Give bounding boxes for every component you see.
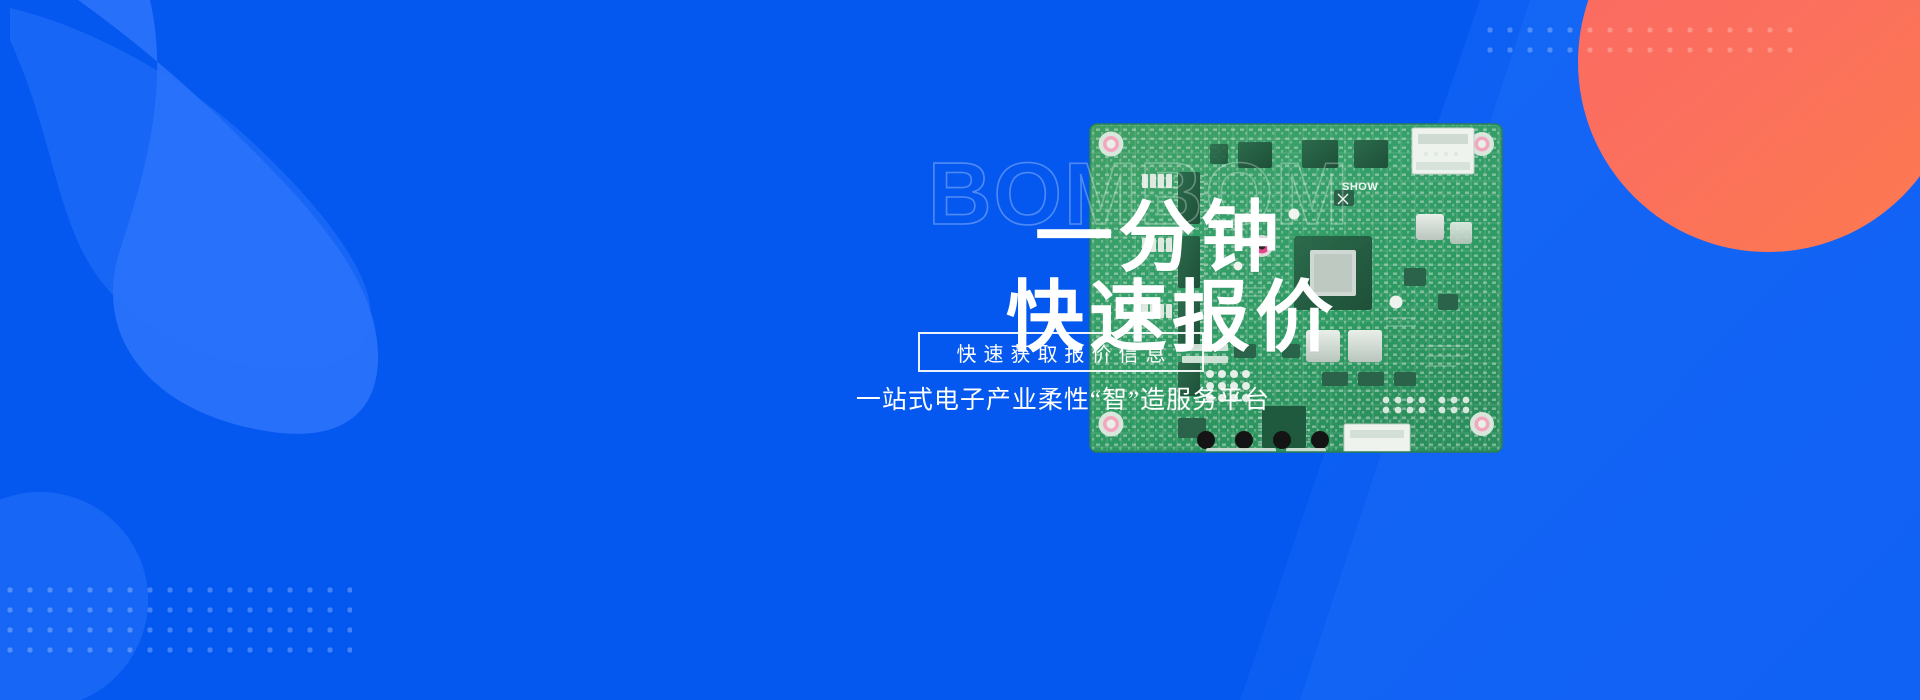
- get-quote-button-label: 快速获取报价信息: [950, 338, 1173, 367]
- tagline: 一站式电子产业柔性“智”造服务平台: [848, 380, 1278, 416]
- headline-line-1: 一分钟: [938, 198, 1284, 278]
- get-quote-button[interactable]: 快速获取报价信息: [918, 332, 1204, 372]
- promo-banner: SHOW BOMBOM 一分钟 快速报: [0, 0, 1920, 700]
- banner-content: BOMBOM 一分钟 快速报价 快速获取报价信息 一站式电子产业柔性“智”造服务…: [0, 0, 1920, 700]
